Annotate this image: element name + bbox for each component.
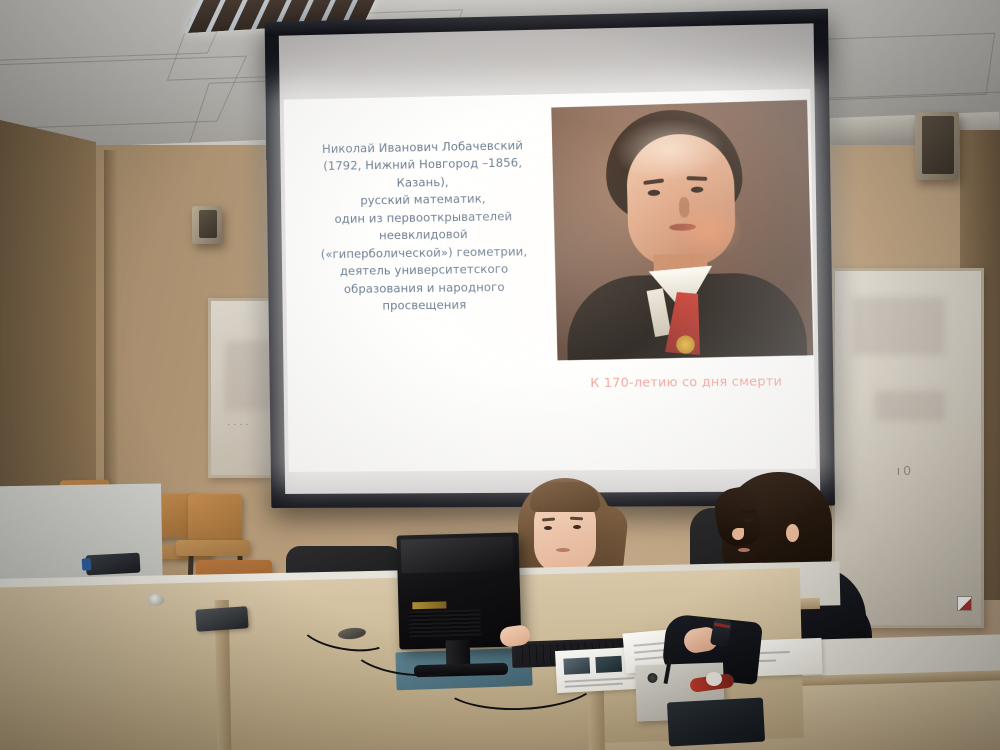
slide-line: русский математик, — [297, 190, 550, 212]
slide-line: просвещения — [298, 296, 551, 317]
slide-line: один из первооткрывателей — [297, 207, 550, 229]
slide-line: Николай Иванович Лобачевский — [296, 137, 549, 159]
classroom-scene: · · · · ι 0 Николай Иванович Лобачевский… — [0, 0, 1000, 750]
wall-speaker-right — [915, 112, 959, 180]
slide-line: («гиперболической») геометрии, — [298, 243, 551, 264]
small-desk-object — [148, 594, 164, 606]
tablet-device[interactable] — [667, 698, 765, 747]
slide-line: образования и народного — [298, 278, 551, 299]
lobachevsky-portrait — [551, 100, 813, 361]
wooden-chair-center — [188, 494, 242, 544]
portrait-coat — [566, 272, 808, 361]
slide-line: (1792, Нижний Новгород –1856, — [297, 154, 550, 176]
portrait-ribbon — [665, 291, 705, 355]
wooden-chair-center-seat — [176, 540, 250, 556]
slide-line: неевклидовой — [297, 225, 550, 246]
small-projector-device[interactable] — [86, 553, 141, 576]
slide-line: деятель университетского — [298, 260, 551, 281]
device-knob[interactable] — [647, 673, 657, 683]
presentation-slide: Николай Иванович Лобачевский (1792, Нижн… — [284, 89, 816, 472]
portrait-medal — [676, 335, 695, 354]
slide-caption: К 170-летию со дня смерти — [548, 373, 816, 391]
slide-body-text: Николай Иванович Лобачевский (1792, Нижн… — [296, 137, 551, 317]
whiteboard-right: ι 0 — [832, 268, 984, 628]
portrait-face — [626, 133, 737, 268]
portrait-hair — [605, 108, 744, 222]
projector-screen: Николай Иванович Лобачевский (1792, Нижн… — [265, 9, 835, 508]
woman-fringe — [530, 482, 600, 512]
portrait-collar — [649, 265, 716, 305]
slide-line: Казань), — [297, 172, 550, 194]
whiteboard-sticker — [957, 596, 972, 611]
remote-control[interactable] — [195, 606, 248, 632]
wall-speaker-left — [192, 206, 222, 244]
